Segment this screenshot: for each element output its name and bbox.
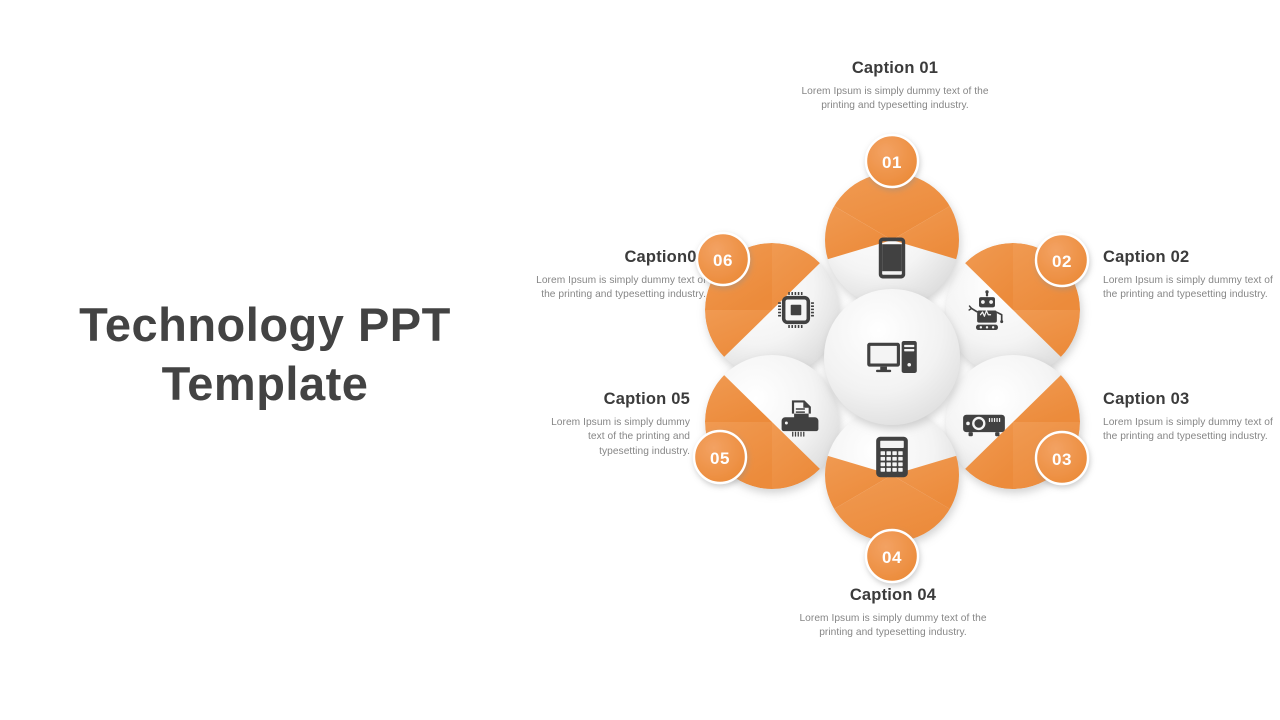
badge-05[interactable]: 05 bbox=[694, 431, 746, 483]
badge-06[interactable]: 06 bbox=[697, 233, 749, 285]
badge-02[interactable]: 02 bbox=[1036, 234, 1088, 286]
badge-04[interactable]: 04 bbox=[866, 530, 918, 582]
badge-label-01: 01 bbox=[882, 153, 902, 172]
caption-body-01: Lorem Ipsum is simply dummy text of the … bbox=[797, 85, 993, 114]
page-title: Technology PPT Template bbox=[55, 296, 475, 414]
caption-body-04: Lorem Ipsum is simply dummy text of the … bbox=[795, 612, 991, 641]
calculator-icon bbox=[876, 437, 908, 477]
petal-node-03[interactable]: 03 bbox=[946, 355, 1088, 489]
petal-node-04[interactable]: 04 bbox=[823, 408, 961, 582]
hexagonal-petal-diagram: 06 bbox=[650, 130, 1150, 600]
petal-node-01[interactable]: 01 bbox=[823, 135, 961, 307]
badge-01[interactable]: 01 bbox=[866, 135, 918, 187]
slide-canvas: Technology PPT Template Caption 01 Lorem… bbox=[0, 0, 1280, 720]
badge-03[interactable]: 03 bbox=[1036, 432, 1088, 484]
page-title-line-1: Technology PPT bbox=[55, 296, 475, 355]
badge-label-06: 06 bbox=[713, 251, 733, 270]
badge-label-03: 03 bbox=[1052, 450, 1072, 469]
badge-label-02: 02 bbox=[1052, 252, 1072, 271]
caption-block-01[interactable]: Caption 01 Lorem Ipsum is simply dummy t… bbox=[797, 59, 993, 114]
center-hub[interactable] bbox=[824, 289, 960, 425]
badge-label-05: 05 bbox=[710, 449, 730, 468]
page-title-line-2: Template bbox=[55, 355, 475, 414]
petal-node-05[interactable]: 05 bbox=[694, 355, 839, 489]
caption-title-01: Caption 01 bbox=[797, 59, 993, 78]
badge-label-04: 04 bbox=[882, 548, 902, 567]
